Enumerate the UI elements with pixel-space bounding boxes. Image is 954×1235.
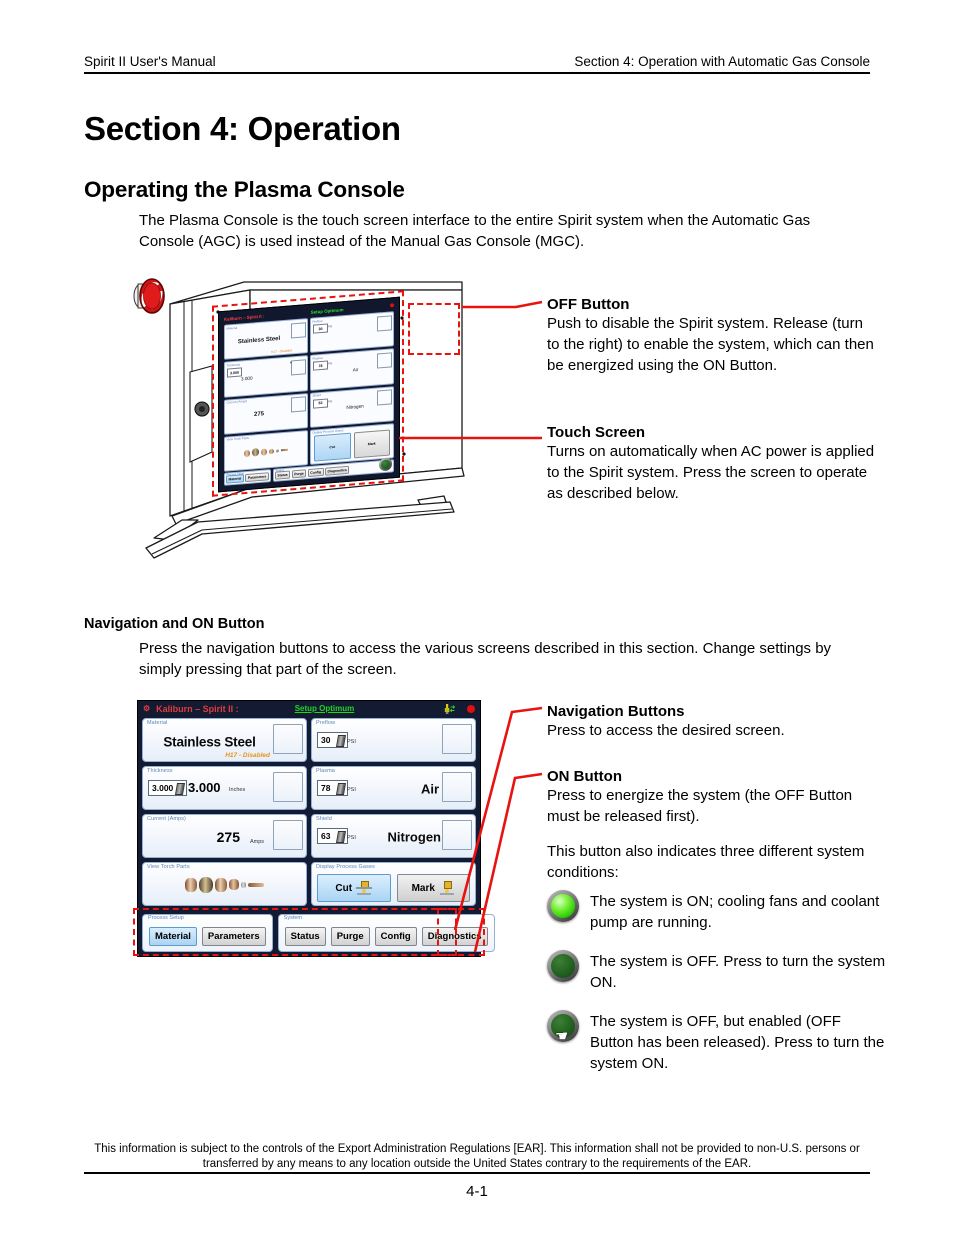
callout-on-button: ON Button Press to energize the system (… [547,768,877,827]
touchscreen-titlebar: ⚙ Kaliburn – Spirit II : Setup Optimum [138,701,480,716]
touchscreen-title: Kaliburn – Spirit II : [156,704,239,714]
preflow-input[interactable]: 30 [317,732,348,748]
panel-value-material: Stainless Steel [149,734,270,749]
touch-screen-callout-box [212,290,404,496]
legend-row-enabled: ☚ The system is OFF, but enabled (OFF Bu… [547,1010,887,1074]
mark-button-label: Mark [412,883,435,894]
panel-label-material: Material [147,720,167,726]
legend-text-off: The system is OFF. Press to turn the sys… [590,950,887,993]
callout-on-title: ON Button [547,768,877,785]
callout-off-desc: Push to disable the Spirit system. Relea… [547,313,877,376]
intro-paragraph: The Plasma Console is the touch screen i… [139,210,869,252]
lamp-enabled-icon: ☚ [547,1010,579,1042]
panel-material[interactable]: Material Stainless Steel H17 - Disabled [142,718,307,762]
callout-touch-screen: Touch Screen Turns on automatically when… [547,424,877,504]
cut-button-label: Cut [335,883,352,894]
legend-row-off: The system is OFF. Press to turn the sys… [547,950,887,993]
hand-cursor-icon: ☚ [553,1029,566,1044]
header-left-text: Spirit II User's Manual [84,54,216,69]
plasma-spark-thumbnail-icon [273,820,303,850]
shield-input-value: 63 [321,831,330,841]
mark-button[interactable]: Mark [397,874,471,902]
panel-current[interactable]: Current (Amps) 275 Amps [142,814,307,858]
system-condition-legend: The system is ON; cooling fans and coola… [547,890,887,1091]
fault-indicator-icon [467,705,475,713]
shield-unit: PSI [347,835,356,841]
panel-display-process-gases[interactable]: Display Process Gases Cut Mark [311,862,476,906]
legend-row-on: The system is ON; cooling fans and coola… [547,890,887,933]
header-rule [84,72,870,74]
material-plate-thumbnail-icon [273,724,303,754]
navigation-buttons-callout-box [133,908,457,956]
lamp-on-icon [547,890,579,922]
plasma-input-value: 78 [321,783,330,793]
panel-label-shield: Shield [316,816,332,822]
connection-icon [444,704,455,714]
plasma-unit: PSI [347,787,356,793]
plasma-console-figure: Kaliburn – Spirit II : Setup Optimum Mat… [132,276,492,568]
touchscreen-panel-grid: Material Stainless Steel H17 - Disabled … [142,718,476,906]
panel-plasma[interactable]: Plasma 78 PSI Air [311,766,476,810]
torch-parts-icon [143,877,306,893]
panel-label-current: Current (Amps) [147,816,186,822]
panel-sub-material: H17 - Disabled [225,752,270,759]
plasma-input[interactable]: 78 [317,780,348,796]
thickness-unit: Inches [229,787,245,793]
panel-label-process-gases: Display Process Gases [316,864,375,870]
page-number: 4-1 [0,1183,954,1200]
lamp-off-icon [547,950,579,982]
gas-cylinder-thumbnail-icon [442,772,472,802]
thickness-input-value: 3.000 [152,783,173,793]
callout-touch-title: Touch Screen [547,424,877,441]
shield-input[interactable]: 63 [317,828,348,844]
shield-gas-name: Nitrogen [388,829,441,844]
preflow-unit: PSI [347,739,356,745]
footer-rule [84,1172,870,1174]
export-control-notice: This information is subject to the contr… [84,1142,870,1172]
thickness-input[interactable]: 3.000 [148,780,187,796]
callout-navigation-buttons: Navigation Buttons Press to access the d… [547,703,877,741]
callout-on-desc: Press to energize the system (the OFF Bu… [547,785,877,827]
panel-shield[interactable]: Shield 63 PSI Nitrogen [311,814,476,858]
callout-nav-desc: Press to access the desired screen. [547,720,877,741]
mark-torch-icon [439,881,455,895]
subsection-title: Operating the Plasma Console [84,177,405,203]
off-button-estop[interactable] [132,276,166,316]
caliper-thumbnail-icon [273,772,303,802]
off-button-callout-box [408,303,460,355]
page-title: Section 4: Operation [84,110,401,148]
plasma-gas-name: Air [421,781,439,796]
setup-optimum-link[interactable]: Setup Optimum [295,704,355,713]
on-button-callout-box [437,908,485,956]
nav-section-heading: Navigation and ON Button [84,616,264,632]
process-gases-buttons: Cut Mark [317,874,470,902]
running-header: Spirit II User's Manual Section 4: Opera… [84,54,870,69]
cut-torch-icon [356,881,372,895]
cut-button[interactable]: Cut [317,874,391,902]
thickness-display-value: 3.000 [188,780,221,795]
current-value: 275 [217,829,240,845]
current-unit: Amps [250,839,264,845]
kaliburn-logo-icon: ⚙ [143,704,150,713]
panel-thickness[interactable]: Thickness 3.000 3.000 Inches [142,766,307,810]
spinner-icon[interactable] [336,831,346,843]
header-right-text: Section 4: Operation with Automatic Gas … [574,54,870,69]
gas-cylinder-thumbnail-icon [442,820,472,850]
nav-paragraph: Press the navigation buttons to access t… [139,638,869,680]
callout-off-button: OFF Button Push to disable the Spirit sy… [547,296,877,376]
callout-nav-title: Navigation Buttons [547,703,877,720]
legend-text-enabled: The system is OFF, but enabled (OFF Butt… [590,1010,887,1074]
callout-off-title: OFF Button [547,296,877,313]
spinner-icon[interactable] [336,783,346,795]
panel-label-thickness: Thickness [147,768,173,774]
legend-text-on: The system is ON; cooling fans and coola… [590,890,887,933]
titlebar-icons [444,704,475,714]
callout-touch-desc: Turns on automatically when AC power is … [547,441,877,504]
callout-on-extra-text: This button also indicates three differe… [547,841,877,883]
preflow-input-value: 30 [321,735,330,745]
panel-label-plasma: Plasma [316,768,335,774]
panel-preflow[interactable]: Preflow 30 PSI [311,718,476,762]
panel-label-preflow: Preflow [316,720,335,726]
panel-label-torch-parts: View Torch Parts [147,864,190,870]
spinner-icon[interactable] [336,735,346,747]
panel-view-torch-parts[interactable]: View Torch Parts [142,862,307,906]
spinner-icon[interactable] [175,783,185,795]
gas-cylinder-thumbnail-icon [442,724,472,754]
